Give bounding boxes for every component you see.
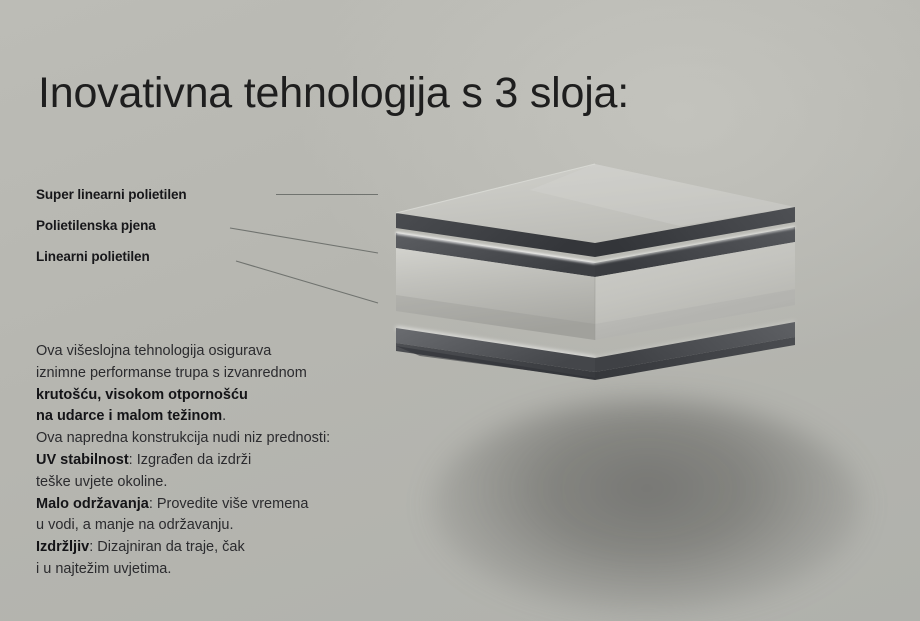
body-text: : Provedite više vremena (149, 496, 309, 512)
body-copy: Ova višeslojna tehnologija osigurava izn… (36, 341, 436, 581)
feature-term-durable: Izdržljiv (36, 539, 89, 555)
three-layer-stack-graphic (380, 150, 820, 400)
body-line: Ova napredna konstrukcija nudi niz predn… (36, 428, 436, 450)
page-title: Inovativna tehnologija s 3 sloja: (38, 69, 629, 118)
body-line: krutošću, visokom otpornošću (36, 385, 436, 407)
body-line: i u najtežim uvjetima. (36, 559, 436, 581)
body-line: na udarce i malom težinom. (36, 406, 436, 428)
body-text: . (222, 408, 226, 424)
feature-term-uv: UV stabilnost (36, 452, 129, 468)
body-emphasis: krutošću, visokom otpornošću (36, 387, 248, 403)
layer-label-polyethylene-foam: Polietilenska pjena (36, 218, 156, 233)
body-line: teške uvjete okoline. (36, 472, 436, 494)
body-line: Izdržljiv: Dizajniran da traje, čak (36, 537, 436, 559)
body-text: u vodi, a manje na održavanju. (36, 517, 234, 533)
body-line: iznimne performanse trupa s izvanrednom (36, 363, 436, 385)
object-drop-shadow (432, 398, 862, 613)
body-text: : Dizajniran da traje, čak (89, 539, 245, 555)
layer-label-linear-polyethylene: Linearni polietilen (36, 249, 150, 264)
body-text: : Izgrađen da izdrži (129, 452, 252, 468)
slide-canvas: Inovativna tehnologija s 3 sloja: Super … (0, 0, 920, 621)
leader-line-middle (230, 228, 378, 253)
body-text: Ova napredna konstrukcija nudi niz predn… (36, 430, 330, 446)
body-text: Ova višeslojna tehnologija osigurava (36, 343, 271, 359)
body-text: i u najtežim uvjetima. (36, 561, 171, 577)
body-text: teške uvjete okoline. (36, 474, 167, 490)
body-line: Malo održavanja: Provedite više vremena (36, 494, 436, 516)
body-line: UV stabilnost: Izgrađen da izdrži (36, 450, 436, 472)
leader-line-bottom (236, 261, 378, 303)
body-text: iznimne performanse trupa s izvanrednom (36, 365, 307, 381)
body-line: u vodi, a manje na održavanju. (36, 515, 436, 537)
layer-label-super-linear-polyethylene: Super linearni polietilen (36, 187, 187, 202)
feature-term-maintenance: Malo održavanja (36, 496, 149, 512)
body-line: Ova višeslojna tehnologija osigurava (36, 341, 436, 363)
body-emphasis: na udarce i malom težinom (36, 408, 222, 424)
